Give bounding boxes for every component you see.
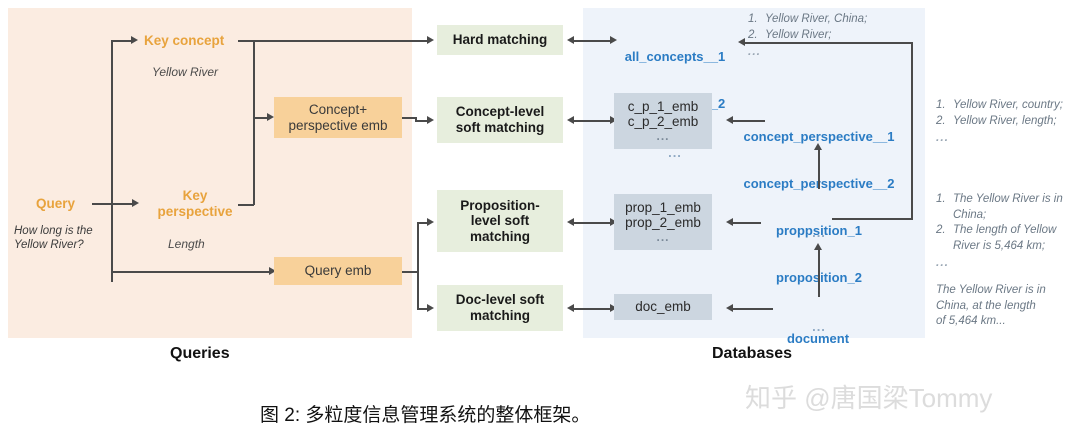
figure-caption: 图 2: 多粒度信息管理系统的整体框架。 — [260, 400, 590, 427]
db-emb-prop-line-1: prop_1_emb — [625, 200, 701, 216]
connector-prop-to-emb — [733, 222, 761, 224]
arrow-doc-left — [567, 304, 574, 312]
matching-box-hard[interactable]: Hard matching — [437, 25, 563, 55]
annotation-prop-num-1: 1. — [936, 192, 953, 223]
db-emb-prop-line-2: prop_2_emb — [625, 215, 701, 231]
annotation-concepts-text-1: Yellow River, China; — [765, 12, 867, 28]
connector-hard-db — [574, 40, 612, 42]
matching-label-hard: Hard matching — [453, 32, 548, 48]
connector-concept-db — [574, 120, 612, 122]
queries-panel — [8, 8, 412, 338]
watermark: 知乎 @唐国梁Tommy — [745, 378, 992, 415]
connector-document-to-emb — [733, 308, 773, 310]
arrow-hard-left — [567, 36, 574, 44]
query-emb-label: Query emb — [305, 263, 372, 279]
db-emb-doc-line-1: doc_emb — [635, 299, 691, 315]
db-emb-box-concept-perspective[interactable]: c_p_1_emb c_p_2_emb ... — [614, 93, 712, 149]
annotation-document-text: The Yellow River is in China, at the len… — [936, 283, 1080, 330]
annotation-concepts-more: ... — [748, 43, 898, 59]
arrow-concept-left — [567, 116, 574, 124]
connector-document-up — [818, 249, 820, 297]
key-perspective-example: Length — [168, 237, 205, 251]
connector-kp-right — [238, 204, 254, 206]
arrow-to-proposition-level — [427, 218, 434, 226]
matching-box-doc-level[interactable]: Doc-level soft matching — [437, 285, 563, 331]
db-emb-cp-more: ... — [656, 130, 669, 144]
db-entry-prop-line-1: proppsition_1 — [752, 223, 886, 239]
matching-label-concept-level: Concept-level soft matching — [456, 104, 545, 135]
matching-label-doc-level: Doc-level soft matching — [456, 292, 545, 323]
annotation-prop-num-2: 2. — [936, 223, 953, 254]
db-entry-all-concepts-line-1: all_concepts__1 — [614, 49, 736, 65]
query-label: Query — [36, 196, 75, 211]
annotation-cp-text-1: Yellow River, country; — [953, 98, 1063, 114]
connector-query-spine — [111, 40, 113, 282]
annotation-cp-text-2: Yellow River, length; — [953, 114, 1057, 130]
matching-box-concept-level[interactable]: Concept-level soft matching — [437, 97, 563, 143]
annotation-prop-more: ... — [936, 254, 1078, 270]
connector-right-vertical — [911, 42, 913, 220]
arrow-query-to-key-perspective — [132, 199, 139, 207]
concept-perspective-emb-label: Concept+ perspective emb — [288, 102, 387, 133]
arrow-to-cp-emb — [267, 113, 274, 121]
annotation-propositions: 1.The Yellow River is in China; 2.The le… — [936, 192, 1078, 270]
db-entry-document[interactable]: document — [775, 300, 861, 378]
annotation-concepts-num-2: 2. — [748, 28, 765, 44]
arrow-cp-to-emb — [726, 116, 733, 124]
query-emb-box[interactable]: Query emb — [274, 257, 402, 285]
matching-box-proposition-level[interactable]: Proposition- level soft matching — [437, 190, 563, 252]
key-concept-label: Key concept — [144, 33, 224, 48]
annotation-concept-perspectives: 1.Yellow River, country; 2.Yellow River,… — [936, 98, 1080, 145]
arrow-to-hard-matching — [427, 36, 434, 44]
db-emb-cp-line-1: c_p_1_emb — [628, 99, 699, 115]
arrow-to-doc-level — [427, 304, 434, 312]
annotation-concepts-num-1: 1. — [748, 12, 765, 28]
annotation-concepts: 1.Yellow River, China; 2.Yellow River; .… — [748, 12, 898, 59]
arrow-prop-to-emb — [726, 218, 733, 226]
connector-qemb-spine — [417, 222, 419, 309]
annotation-cp-more: ... — [936, 129, 1080, 145]
section-label-queries: Queries — [170, 345, 230, 363]
figure-root: Query How long is the Yellow River? Key … — [0, 0, 1080, 441]
arrow-proposition-up — [814, 143, 822, 150]
arrow-to-concept-level — [427, 116, 434, 124]
connector-right-bottom — [832, 218, 913, 220]
connector-prop-db — [574, 222, 612, 224]
matching-label-proposition-level: Proposition- level soft matching — [460, 198, 540, 245]
key-concept-example: Yellow River — [152, 65, 218, 79]
annotation-concepts-text-2: Yellow River; — [765, 28, 831, 44]
connector-to-query-emb — [111, 271, 271, 273]
arrow-document-to-emb — [726, 304, 733, 312]
db-emb-box-proposition[interactable]: prop_1_emb prop_2_emb ... — [614, 194, 712, 250]
concept-perspective-emb-box[interactable]: Concept+ perspective emb — [274, 97, 402, 138]
key-perspective-label: Key perspective — [152, 188, 238, 219]
connector-cpemb-out — [402, 117, 416, 119]
db-emb-cp-line-2: c_p_2_emb — [628, 114, 699, 130]
connector-to-key-concept — [111, 40, 133, 42]
query-example-text: How long is the Yellow River? — [14, 224, 93, 253]
arrow-prop-left — [567, 218, 574, 226]
arrow-document-up — [814, 243, 822, 250]
db-emb-prop-more: ... — [656, 231, 669, 245]
connector-cp-to-emb — [733, 120, 765, 122]
annotation-cp-num-1: 1. — [936, 98, 953, 114]
connector-merge-vertical — [253, 40, 255, 205]
connector-doc-db — [574, 308, 612, 310]
annotation-prop-text-1: The Yellow River is in China; — [953, 192, 1063, 223]
connector-kc-to-hard — [238, 40, 428, 42]
db-emb-box-doc[interactable]: doc_emb — [614, 294, 712, 320]
connector-query-out — [92, 203, 134, 205]
arrow-to-key-concept — [131, 36, 138, 44]
connector-qemb-out — [402, 271, 418, 273]
section-label-databases: Databases — [712, 345, 792, 363]
connector-proposition-up — [818, 149, 820, 189]
arrow-to-all-concepts — [738, 38, 745, 46]
annotation-cp-num-2: 2. — [936, 114, 953, 130]
annotation-prop-text-2: The length of Yellow River is 5,464 km; — [953, 223, 1056, 254]
